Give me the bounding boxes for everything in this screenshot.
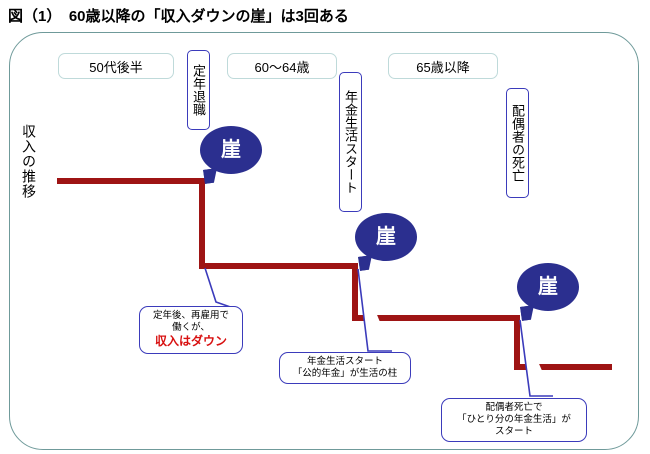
cliff-3-tail [520,305,536,321]
cliff-3-label: 崖 [538,277,558,297]
band-50s-late: 50代後半 [58,53,174,79]
event-pension-start: 年金生活スタート [339,72,362,212]
cliff-1-tail [203,168,219,184]
page-title: 図（1） 60歳以降の「収入ダウンの崖」は3回ある [8,5,349,26]
note-survivor-line2: 「ひとり分の年金生活」が [448,414,580,426]
event-retirement: 定年退職 [187,50,210,130]
cliff-2-bubble: 崖 [355,213,417,261]
cliff-1-label: 崖 [221,140,241,160]
note-pension-line2: 「公的年金」が生活の柱 [286,368,404,380]
note-reemployment: 定年後、再雇用で 働くが、 収入はダウン [139,306,243,354]
event-spouse-death: 配偶者の死亡 [506,88,529,198]
cliff-3-bubble: 崖 [517,263,579,311]
note-reemployment-line2: 働くが、 [146,322,236,334]
diagram-canvas: 図（1） 60歳以降の「収入ダウンの崖」は3回ある 収入の推移 50代後半 60… [0,0,650,454]
note-reemployment-highlight: 収入はダウン [146,334,236,349]
note-survivor-line3: スタート [448,426,580,438]
note-survivor: 配偶者死亡で 「ひとり分の年金生活」が スタート [441,398,587,442]
cliff-1-bubble: 崖 [200,126,262,174]
cliff-2-label: 崖 [376,227,396,247]
cliff-2-tail [358,255,374,271]
band-60-64: 60〜64歳 [227,53,337,79]
band-65-plus: 65歳以降 [388,53,498,79]
note-pension: 年金生活スタート 「公的年金」が生活の柱 [279,352,411,384]
note-pension-line1: 年金生活スタート [286,356,404,368]
y-axis-label: 収入の推移 [22,124,36,220]
note-reemployment-line1: 定年後、再雇用で [146,310,236,322]
diagram-frame [9,32,639,450]
note-survivor-line1: 配偶者死亡で [448,402,580,414]
